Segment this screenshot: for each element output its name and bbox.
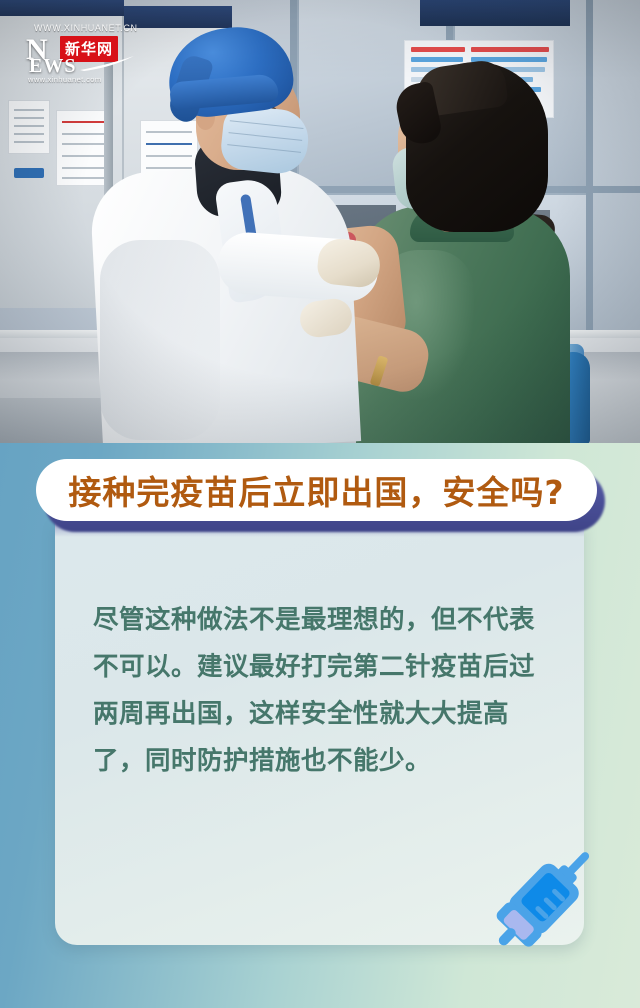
answer-body: 尽管这种做法不是最理想的，但不代表不可以。建议最好打完第二针疫苗后过两周再出国，…	[93, 597, 553, 785]
question-title-text: 接种完疫苗后立即出国，安全吗?	[68, 466, 564, 514]
coat-shadow	[100, 240, 220, 440]
fridge-label	[56, 110, 110, 186]
poster-root: WWW.XINHUANET.CN 新华网 N EWS www.xinhuanet…	[0, 0, 640, 1008]
question-title-pill: 接种完疫苗后立即出国，安全吗?	[36, 459, 597, 521]
fridge-top-panel	[124, 6, 232, 28]
fridge-top-panel	[0, 0, 124, 16]
fridge-label	[8, 100, 50, 154]
vaccination-photo: WWW.XINHUANET.CN 新华网 N EWS www.xinhuanet…	[0, 0, 640, 443]
syringe-icon	[486, 834, 612, 956]
fridge-top-panel	[420, 0, 570, 26]
fridge-display-strip	[14, 168, 44, 178]
